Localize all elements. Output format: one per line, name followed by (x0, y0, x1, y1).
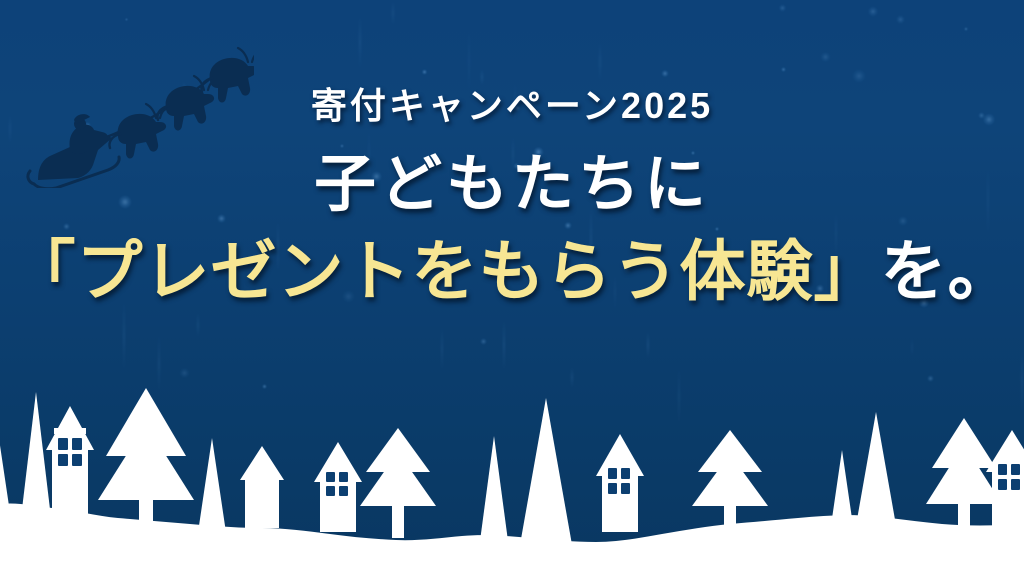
tree-fir (926, 418, 1002, 538)
star-streak (503, 319, 505, 371)
headline-line-2: 「プレゼントをもらう体験」を。 (0, 238, 1024, 304)
star-streak (647, 331, 649, 358)
star-streak (441, 326, 443, 371)
star-glow (480, 338, 487, 345)
house (46, 406, 94, 516)
headline-highlight: プレゼントをもらう体験 (77, 234, 814, 308)
headline-tail: を。 (881, 234, 1015, 308)
christmas-campaign-banner: 寄付キャンペーン2025 子どもたちに 「プレゼントをもらう体験」を。 (0, 0, 1024, 576)
headline-close-quote: 」 (814, 234, 881, 308)
snowy-village-skyline (0, 376, 1024, 576)
star-streak (123, 300, 125, 372)
tree-spire (518, 398, 574, 556)
tree-fir (98, 388, 194, 536)
campaign-copy: 寄付キャンペーン2025 子どもたちに 「プレゼントをもらう体験」を。 (0, 0, 1024, 304)
house (314, 442, 362, 532)
house (986, 430, 1024, 526)
headline-open-quote: 「 (10, 234, 77, 308)
tree-fir (360, 428, 436, 538)
campaign-eyebrow: 寄付キャンペーン2025 (0, 88, 1024, 124)
star-streak (911, 338, 913, 357)
star-streak (197, 312, 199, 339)
headline-line-1: 子どもたちに (0, 154, 1024, 216)
house (596, 434, 644, 532)
house (240, 446, 284, 528)
